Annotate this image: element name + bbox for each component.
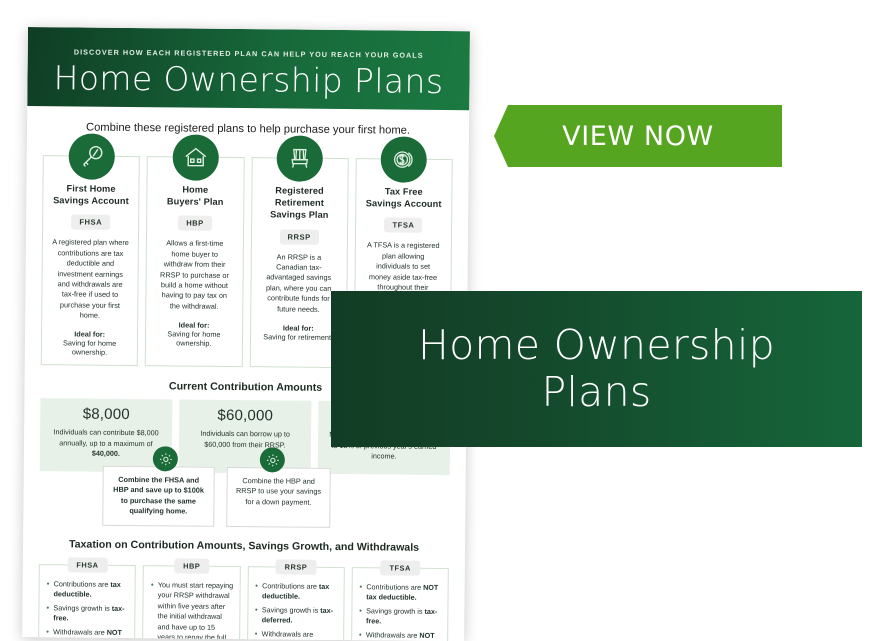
contribution-description: Individuals can contribute $8,000 annual… bbox=[46, 428, 166, 460]
taxation-card-hbp[interactable]: HBP You must start repaying your RRSP wi… bbox=[142, 565, 240, 641]
plan-description: Allows a first-time home buyer to withdr… bbox=[153, 239, 237, 312]
item-text: Contributions are bbox=[262, 581, 319, 591]
taxation-list-item: Contributions are tax deductible. bbox=[47, 579, 129, 601]
contribution-card-hbp[interactable]: $60,000 Individuals can borrow up to $60… bbox=[179, 400, 312, 474]
taxation-list-item: Savings growth is tax-free. bbox=[359, 606, 441, 628]
plan-name: Registered Retirement Savings Plan bbox=[258, 184, 342, 222]
plan-name-line1: Home bbox=[182, 184, 208, 194]
taxation-list-item: Contributions are NOT tax deductible. bbox=[359, 582, 441, 604]
plan-name: Home Buyers' Plan bbox=[154, 183, 237, 208]
taxation-list: You must start repaying your RRSP withdr… bbox=[150, 580, 233, 641]
plan-card-fhsa[interactable]: First Home Savings Account FHSA A regist… bbox=[41, 155, 140, 366]
plan-description: An RRSP is a Canadian tax-advantaged sav… bbox=[257, 252, 341, 315]
contribution-amount: $8,000 bbox=[46, 406, 166, 424]
plan-chip-tfsa: TFSA bbox=[384, 218, 422, 233]
plan-name-line2: Savings Account bbox=[366, 198, 442, 209]
overlay-title-line1: Home Ownership bbox=[418, 321, 775, 369]
taxation-chip-hbp: HBP bbox=[174, 558, 209, 573]
key-icon bbox=[68, 133, 114, 179]
taxation-chip-fhsa: FHSA bbox=[67, 557, 107, 572]
overlay-title-panel: Home Ownership Plans bbox=[331, 291, 862, 447]
taxation-card-fhsa[interactable]: FHSA Contributions are tax deductible. S… bbox=[38, 564, 136, 641]
chair-icon bbox=[277, 135, 323, 181]
taxation-card-row: FHSA Contributions are tax deductible. S… bbox=[22, 564, 465, 641]
coin-dollar-icon bbox=[381, 136, 427, 182]
plan-description: A registered plan where contributions ar… bbox=[48, 238, 132, 322]
view-now-button[interactable]: VIEW NOW bbox=[494, 105, 782, 167]
item-text: Withdrawals are bbox=[53, 627, 107, 637]
combo-card-row: Combine the FHSA and HBP and save up to … bbox=[23, 465, 466, 530]
item-text: Savings growth is bbox=[366, 606, 424, 616]
taxation-list: Contributions are tax deductible. Saving… bbox=[255, 581, 338, 641]
taxation-chip-rrsp: RRSP bbox=[276, 559, 317, 574]
house-icon bbox=[172, 134, 218, 180]
contribution-desc-emphasis: $40,000. bbox=[92, 449, 120, 458]
plan-chip-rrsp: RRSP bbox=[279, 229, 318, 244]
plan-name-line1: First Home bbox=[67, 183, 116, 193]
taxation-list-item: Withdrawals are NOT taxable. bbox=[359, 630, 441, 641]
contribution-desc-text: Individuals can contribute $8,000 annual… bbox=[54, 428, 159, 448]
overlay-title-text: Home Ownership Plans bbox=[394, 322, 799, 415]
plan-name-line1: Registered bbox=[275, 185, 324, 195]
taxation-list-item: Savings growth is tax-free. bbox=[46, 603, 128, 625]
plan-chip-hbp: HBP bbox=[178, 216, 212, 231]
plan-chip-fhsa: FHSA bbox=[71, 215, 110, 230]
taxation-list-item: Savings growth is tax-deferred. bbox=[255, 605, 337, 627]
plan-name: Tax Free Savings Account bbox=[362, 185, 445, 210]
combo-card-fhsa-hbp[interactable]: Combine the FHSA and HBP and save up to … bbox=[102, 465, 215, 526]
item-text-post: if used to buy a home. bbox=[53, 638, 123, 641]
contribution-description: Individuals can borrow up to $60,000 fro… bbox=[185, 429, 305, 451]
taxation-list: Contributions are tax deductible. Saving… bbox=[46, 579, 129, 641]
plan-card-hbp[interactable]: Home Buyers' Plan HBP Allows a first-tim… bbox=[145, 156, 244, 367]
plan-name-line2: Buyers' Plan bbox=[167, 197, 224, 208]
taxation-list-item: Contributions are tax deductible. bbox=[255, 581, 337, 603]
plan-name-line2: Retirement Savings Plan bbox=[270, 198, 328, 221]
plan-name: First Home Savings Account bbox=[49, 182, 132, 207]
combo-card-hbp-rrsp[interactable]: Combine the HBP and RRSP to use your sav… bbox=[226, 467, 331, 528]
taxation-list-item: You must start repaying your RRSP withdr… bbox=[150, 580, 233, 641]
page-title: Home Ownership Plans bbox=[27, 58, 469, 101]
taxation-list: Contributions are NOT tax deductible. Sa… bbox=[359, 582, 442, 641]
item-text: Contributions are bbox=[54, 579, 111, 589]
taxation-chip-tfsa: TFSA bbox=[380, 560, 419, 575]
plan-name-line1: Tax Free bbox=[385, 186, 423, 196]
plan-name-line2: Savings Account bbox=[53, 195, 129, 206]
item-text: Withdrawals are bbox=[366, 630, 420, 640]
plan-ideal-value: Saving for home ownership. bbox=[48, 339, 131, 358]
document-hero-banner: DISCOVER HOW EACH REGISTERED PLAN CAN HE… bbox=[27, 27, 470, 110]
overlay-title-line2: Plans bbox=[541, 368, 651, 416]
taxation-list-item: Withdrawals are taxable. bbox=[255, 629, 337, 641]
plan-ideal-value: Saving for home ownership. bbox=[152, 329, 235, 348]
taxation-card-rrsp[interactable]: RRSP Contributions are tax deductible. S… bbox=[246, 566, 344, 641]
contribution-amount: $60,000 bbox=[185, 407, 305, 425]
taxation-section-title: Taxation on Contribution Amounts, Saving… bbox=[23, 538, 465, 554]
item-text: Savings growth is bbox=[53, 603, 111, 613]
item-text: Contributions are bbox=[366, 582, 423, 592]
plan-ideal-value: Saving for retirement. bbox=[256, 332, 339, 342]
item-text: Withdrawals are bbox=[262, 629, 314, 638]
taxation-list-item: Withdrawals are NOT taxable if used to b… bbox=[46, 627, 129, 641]
taxation-card-tfsa[interactable]: TFSA Contributions are NOT tax deductibl… bbox=[350, 567, 448, 641]
